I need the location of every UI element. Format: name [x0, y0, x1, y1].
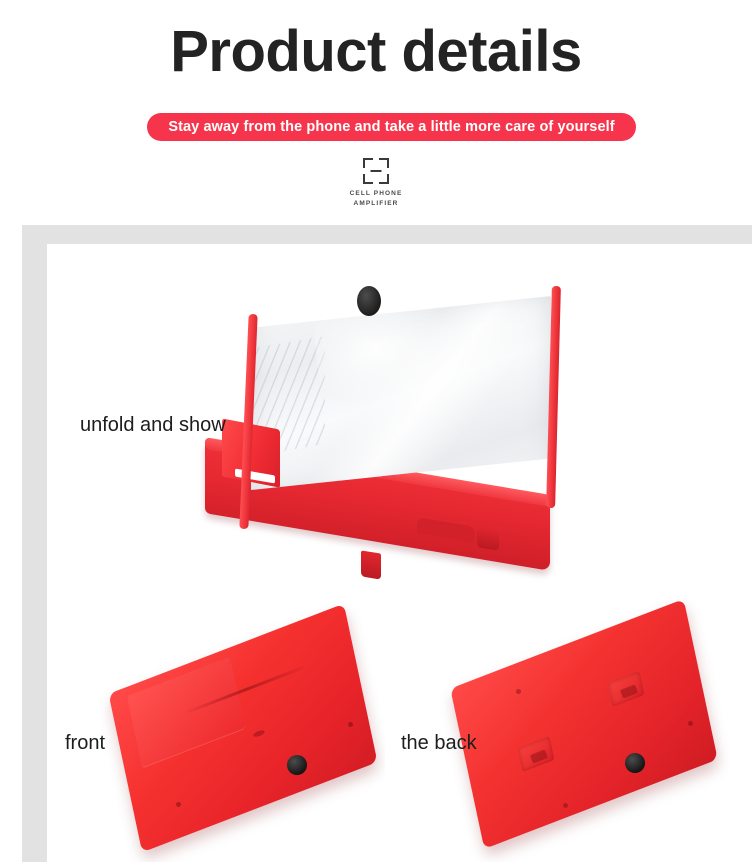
- folded-back-corner-hole-bottom: [563, 803, 568, 808]
- gallery-panel-unfolded[interactable]: unfold and show: [47, 244, 730, 587]
- folded-back-black-knob: [625, 753, 645, 773]
- product-image-unfolded: [167, 284, 637, 574]
- folded-body-back: [450, 599, 717, 849]
- panel-label-back: the back: [401, 732, 477, 755]
- magnifier-black-knob: [357, 286, 381, 316]
- panel-label-front: front: [65, 732, 105, 755]
- page-title: Product details: [0, 22, 752, 83]
- subtitle-badge: Stay away from the phone and take a litt…: [147, 113, 636, 141]
- product-image-front: [117, 648, 377, 843]
- folded-back-corner-hole-top: [516, 689, 521, 694]
- product-gallery: unfold and show front: [22, 225, 752, 862]
- brand-name-line2: AMPLIFIER: [350, 199, 403, 209]
- magnifier-foot-right: [477, 525, 499, 550]
- folded-front-black-knob: [287, 755, 307, 775]
- magnifier-lens-glare: [313, 304, 471, 407]
- folded-front-corner-hole-left: [176, 802, 181, 807]
- gallery-inner: unfold and show front: [47, 244, 752, 862]
- panel-label-unfold: unfold and show: [80, 414, 226, 437]
- brand-logo: CELL PHONE AMPLIFIER: [0, 158, 752, 209]
- magnifier-foot-left: [361, 550, 381, 579]
- subtitle-text: Stay away from the phone and take a litt…: [168, 119, 614, 135]
- scan-frame-icon: [363, 158, 389, 184]
- folded-front-corner-hole-right: [348, 722, 353, 727]
- brand-name: CELL PHONE AMPLIFIER: [350, 189, 403, 209]
- page-header: Product details Stay away from the phone…: [0, 0, 752, 222]
- brand-name-line1: CELL PHONE: [350, 189, 403, 199]
- gallery-panel-back[interactable]: the back: [391, 593, 730, 862]
- gallery-panel-front[interactable]: front: [47, 593, 385, 862]
- product-image-back: [459, 643, 721, 843]
- folded-back-corner-hole-right: [688, 721, 693, 726]
